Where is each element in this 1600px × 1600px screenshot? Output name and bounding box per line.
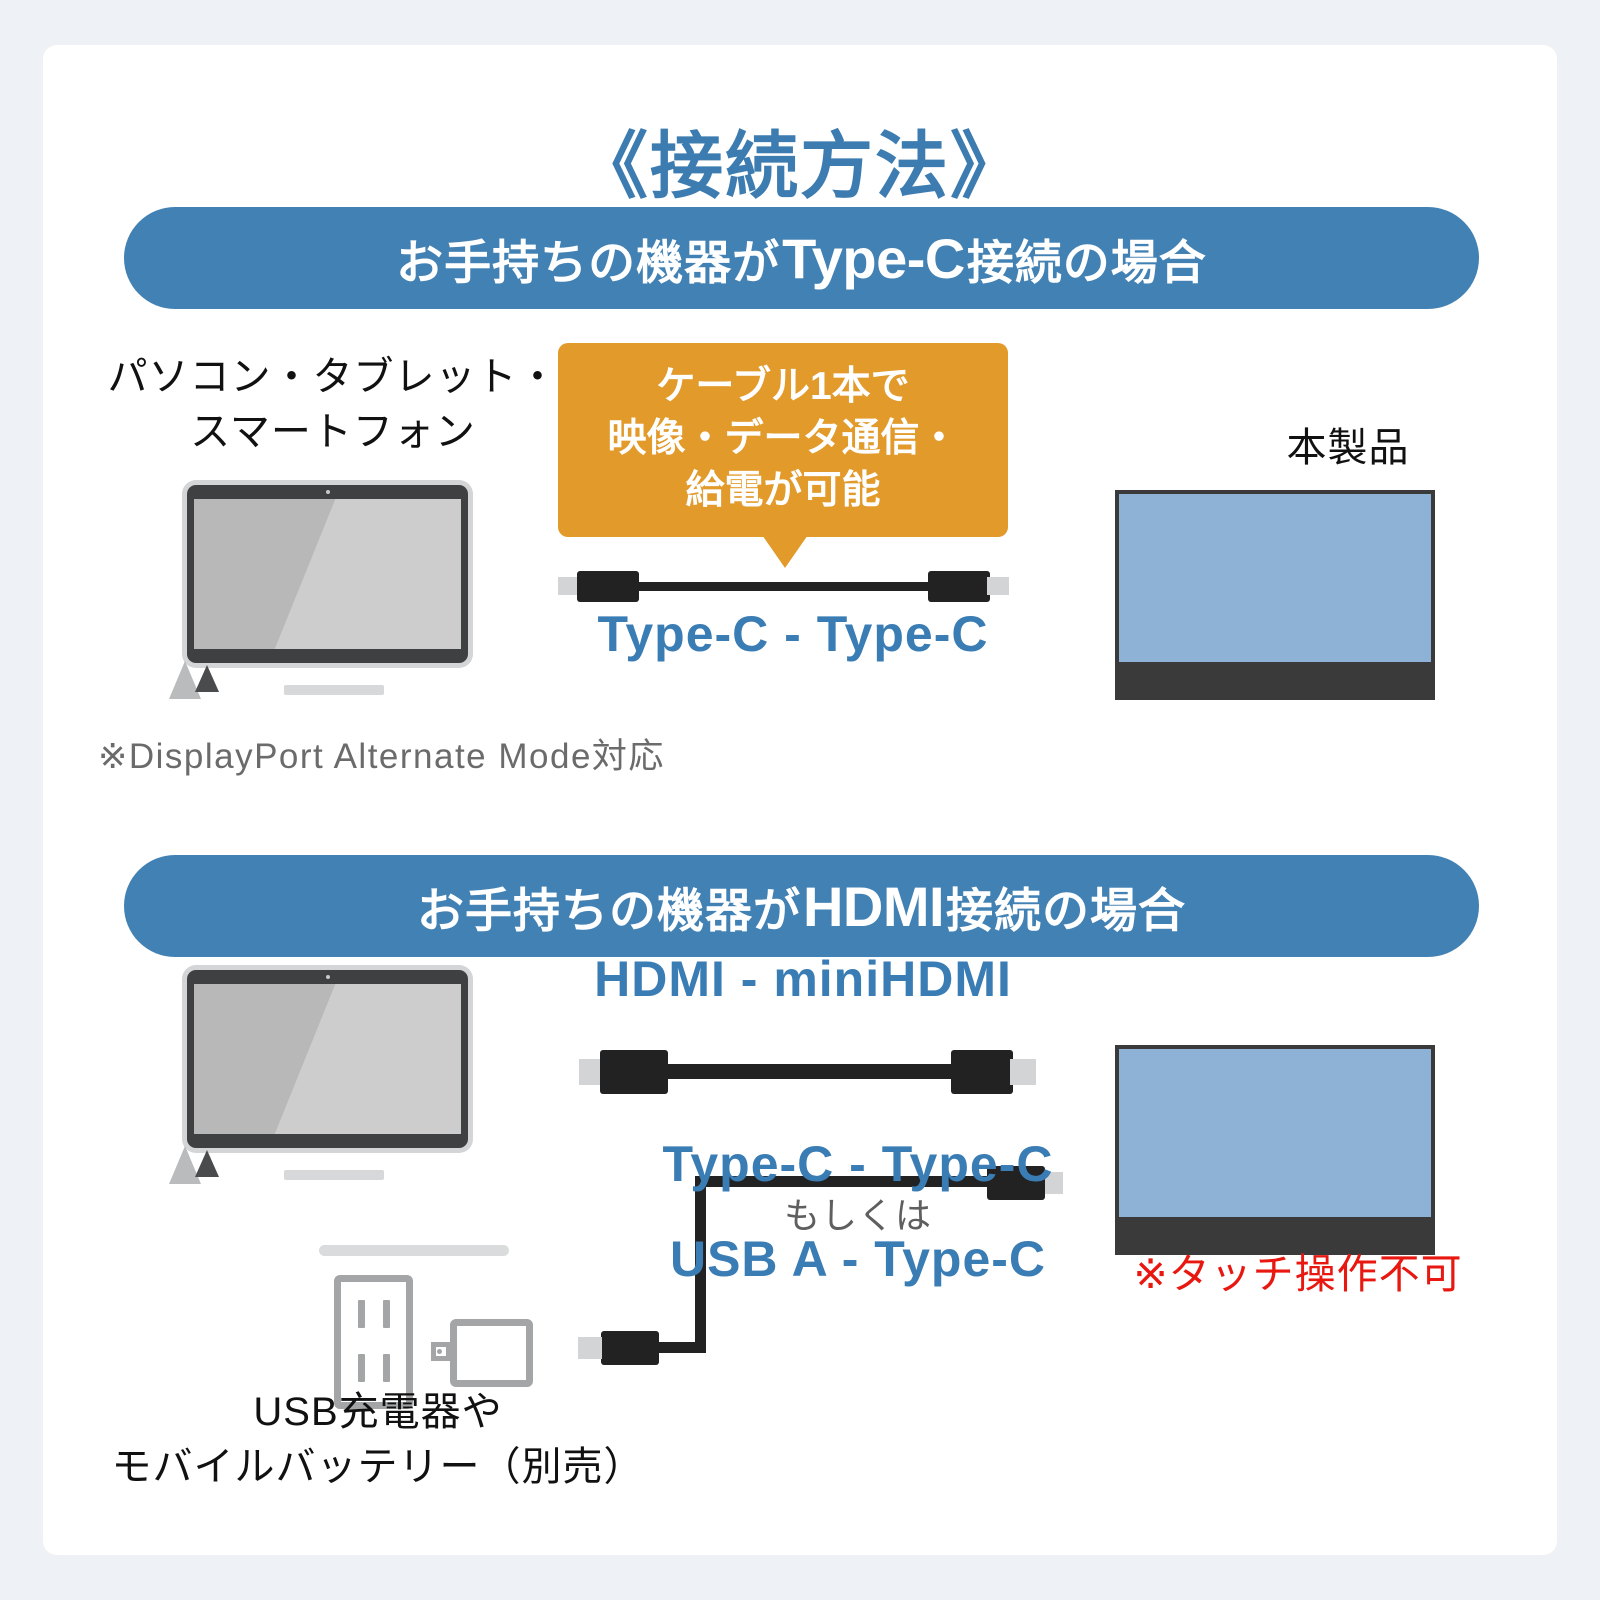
- laptop-icon-2: [169, 970, 499, 1185]
- section2-banner: お手持ちの機器が HDMI 接続の場合: [124, 855, 1479, 957]
- device-label-line2: スマートフォン: [83, 405, 583, 460]
- laptop-camera-icon: [326, 490, 330, 494]
- laptop-camera-icon: [326, 975, 330, 979]
- charger-label-line1: USB充電器や: [73, 1385, 683, 1440]
- laptop-screen: [194, 984, 461, 1134]
- cable-label-typec-typec-2: Type-C - Type-C: [623, 1135, 1093, 1193]
- laptop-trackpad: [284, 1170, 384, 1180]
- charger-prong-dot: [437, 1349, 442, 1354]
- usb-charger-icon: [450, 1319, 533, 1387]
- cable-icon-typec-typec: [558, 565, 1008, 605]
- speech-tail-icon: [760, 532, 810, 568]
- laptop-lid: [187, 485, 468, 663]
- cable-label-usba-typec: USB A - Type-C: [623, 1230, 1093, 1288]
- laptop-keyboard-area: [195, 1150, 219, 1177]
- section1-banner: お手持ちの機器が Type-C 接続の場合: [124, 207, 1479, 309]
- monitor-icon-2: [1115, 1045, 1435, 1255]
- callout-line3: 給電が可能: [558, 465, 1008, 517]
- section2-banner-emphasis: HDMI: [801, 874, 946, 939]
- cable-connector-right: [928, 571, 990, 602]
- section1-banner-suffix: 接続の場合: [967, 224, 1207, 293]
- power-cable-tip-left: [578, 1337, 602, 1359]
- section1-banner-prefix: お手持ちの機器が: [396, 224, 780, 293]
- device-label-line1: パソコン・タブレット・: [83, 350, 583, 405]
- cable-wire: [636, 582, 936, 591]
- cable-label-hdmi-minihdmi: HDMI - miniHDMI: [533, 950, 1073, 1008]
- laptop-screen: [194, 499, 461, 649]
- cable-icon-hdmi-minihdmi: [579, 1045, 1054, 1097]
- laptop-screen-glare: [263, 984, 461, 1134]
- cable-connector-right: [951, 1050, 1013, 1094]
- device-label: パソコン・タブレット・ スマートフォン: [83, 350, 583, 460]
- monitor-icon: [1115, 490, 1435, 700]
- section2-banner-prefix: お手持ちの機器が: [417, 872, 801, 941]
- cable-wire: [665, 1064, 953, 1079]
- callout-line2: 映像・データ通信・: [558, 413, 1008, 465]
- surface-line: [319, 1245, 509, 1256]
- laptop-icon: [169, 485, 499, 700]
- content-card: 《接続方法》 お手持ちの機器が Type-C 接続の場合 パソコン・タブレット・…: [43, 45, 1557, 1555]
- outlet-slot: [383, 1354, 390, 1382]
- cable-tip-right: [1010, 1059, 1036, 1085]
- monitor-display: [1119, 494, 1431, 662]
- laptop-screen-glare: [263, 499, 461, 649]
- charger-label: USB充電器や モバイルバッテリー（別売）: [73, 1385, 683, 1495]
- outlet-slot: [383, 1300, 390, 1328]
- cable-connector-left: [577, 571, 639, 602]
- outlet-slot: [358, 1300, 365, 1328]
- callout-line1: ケーブル1本で: [558, 361, 1008, 413]
- page-title: 《接続方法》: [43, 130, 1557, 203]
- power-cable-connector-left: [601, 1331, 659, 1365]
- cable-tip-right: [987, 577, 1009, 595]
- power-cable-wire-bottom: [651, 1342, 706, 1353]
- feature-callout: ケーブル1本で 映像・データ通信・ 給電が可能: [558, 343, 1008, 537]
- laptop-lid: [187, 970, 468, 1148]
- section2-banner-suffix: 接続の場合: [946, 872, 1186, 941]
- section1-banner-emphasis: Type-C: [780, 226, 967, 291]
- cable-label-typec-typec: Type-C - Type-C: [523, 605, 1063, 663]
- cable-connector-left: [600, 1050, 668, 1094]
- product-label: 本製品: [1153, 415, 1543, 473]
- laptop-trackpad: [284, 685, 384, 695]
- monitor-display: [1119, 1049, 1431, 1217]
- displayport-alt-note: ※DisplayPort Alternate Mode対応: [98, 728, 898, 779]
- outlet-slot: [358, 1354, 365, 1382]
- laptop-keyboard-area: [195, 665, 219, 692]
- touch-warning: ※タッチ操作不可: [1063, 1240, 1533, 1300]
- charger-label-line2: モバイルバッテリー（別売）: [73, 1440, 683, 1495]
